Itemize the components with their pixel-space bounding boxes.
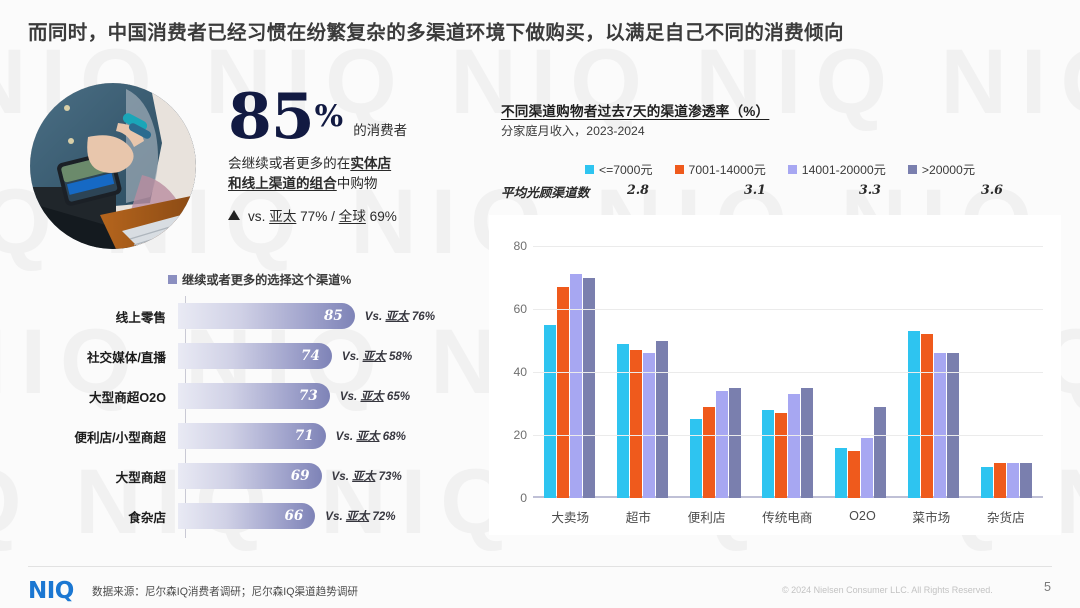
- hbar-category-label: 大型商超O2O: [30, 387, 178, 406]
- hbar-track: 71Vs. 亚太 68%: [178, 416, 460, 456]
- hbar-note-value: 76%: [409, 310, 435, 323]
- hbar-category-label: 线上零售: [30, 307, 178, 326]
- vchart-bar[interactable]: [643, 353, 655, 498]
- hbar-value-label: 85: [324, 308, 343, 324]
- kpi-desc-bold1: 实体店: [350, 156, 391, 171]
- legend-swatch-icon: [168, 275, 177, 284]
- hbar-note-region: 亚太: [356, 430, 379, 443]
- vchart-bar[interactable]: [835, 448, 847, 498]
- right-chart-subtitle: 分家庭月收入，2023-2024: [501, 121, 645, 139]
- legend-swatch-icon: [675, 165, 684, 174]
- hbar-row: 便利店/小型商超71Vs. 亚太 68%: [30, 416, 460, 456]
- hbar-note-value: 72%: [369, 510, 395, 523]
- vchart-gridline: [533, 309, 1043, 310]
- vchart-bar[interactable]: [716, 391, 728, 498]
- vchart-bar[interactable]: [690, 419, 702, 498]
- kpi-percent-sign: %: [315, 99, 344, 134]
- vchart-x-label: O2O: [849, 509, 876, 523]
- hbar-track: 74Vs. 亚太 58%: [178, 336, 460, 376]
- vchart-bar[interactable]: [934, 353, 946, 498]
- hbar-value-label: 66: [284, 508, 303, 524]
- hbar-value-label: 69: [291, 468, 310, 484]
- kpi-desc-part2: 中购物: [337, 176, 378, 191]
- vchart-bar[interactable]: [557, 287, 569, 498]
- page-title: 而同时，中国消费者已经习惯在纷繁复杂的多渠道环境下做购买，以满足自己不同的消费倾…: [28, 16, 844, 45]
- vchart-bar[interactable]: [1020, 463, 1032, 498]
- hbar-note-region: 亚太: [352, 470, 375, 483]
- kpi-vs-apac-value: 77% /: [296, 209, 338, 224]
- hbar-benchmark-note: Vs. 亚太 65%: [340, 388, 410, 404]
- hbar-benchmark-note: Vs. 亚太 73%: [332, 468, 402, 484]
- vchart-bar[interactable]: [775, 413, 787, 498]
- kpi-headline: 85 % 的消费者: [228, 88, 468, 146]
- legend-label: 14001-20000元: [802, 160, 886, 178]
- vchart-gridline: [533, 246, 1043, 247]
- vchart-bar[interactable]: [801, 388, 813, 498]
- average-channels-value: 3.6: [981, 182, 1003, 197]
- vchart-y-tick-label: 40: [487, 365, 527, 379]
- page-number: 5: [1044, 580, 1051, 594]
- legend-item[interactable]: 7001-14000元: [675, 160, 766, 178]
- hbar-fill: 74: [178, 343, 332, 369]
- vchart-plot-area: 020406080: [533, 246, 1043, 498]
- hbar-benchmark-note: Vs. 亚太 68%: [336, 428, 406, 444]
- average-channels-value: 3.1: [744, 182, 766, 197]
- hbar-track: 73Vs. 亚太 65%: [178, 376, 460, 416]
- niq-logo: NIQ: [28, 578, 74, 604]
- kpi-block: 85 % 的消费者 会继续或者更多的在实体店和线上渠道的组合中购物 vs. 亚太…: [228, 88, 468, 225]
- hbar-fill: 66: [178, 503, 315, 529]
- vchart-bar[interactable]: [544, 325, 556, 498]
- vchart-bar[interactable]: [762, 410, 774, 498]
- kpi-desc-part1: 会继续或者更多的在: [228, 156, 350, 171]
- hbar-note-region: 亚太: [363, 350, 386, 363]
- vchart-bar[interactable]: [729, 388, 741, 498]
- footer-divider: [28, 566, 1052, 567]
- hbar-category-label: 社交媒体/直播: [30, 347, 178, 366]
- vchart-x-axis-labels: 大卖场超市便利店传统电商O2O菜市场杂货店: [533, 505, 1043, 527]
- vchart-bar[interactable]: [908, 331, 920, 498]
- vchart-x-label: 传统电商: [762, 507, 812, 526]
- vchart-bar[interactable]: [570, 274, 582, 498]
- legend-label: >20000元: [922, 160, 975, 178]
- kpi-vs-prefix: vs.: [248, 209, 269, 224]
- right-chart-title: 不同渠道购物者过去7天的渠道渗透率（%）: [501, 100, 769, 120]
- legend-swatch-icon: [908, 165, 917, 174]
- left-chart-legend-label: 继续或者更多的选择这个渠道%: [182, 270, 351, 288]
- vchart-x-label: 超市: [626, 507, 651, 526]
- average-channels-value: 3.3: [859, 182, 881, 197]
- hbar-note-region: 亚太: [385, 310, 408, 323]
- vchart-bar[interactable]: [703, 407, 715, 498]
- channel-preference-bar-chart: 线上零售85Vs. 亚太 76%社交媒体/直播74Vs. 亚太 58%大型商超O…: [30, 296, 460, 536]
- vchart-gridline: [533, 435, 1043, 436]
- kpi-vs-global-label: 全球: [339, 209, 366, 224]
- slide-root: NIQ NIQ NIQ NIQ NIQ NIQ NIQ NIQ NIQ NIQ …: [0, 0, 1080, 608]
- legend-label: <=7000元: [599, 160, 653, 178]
- vchart-bar[interactable]: [1007, 463, 1019, 498]
- vchart-bar[interactable]: [656, 341, 668, 499]
- hbar-value-label: 71: [295, 428, 314, 444]
- hbar-fill: 71: [178, 423, 326, 449]
- hbar-row: 大型商超69Vs. 亚太 73%: [30, 456, 460, 496]
- vchart-y-tick-label: 0: [487, 491, 527, 505]
- vchart-x-label: 杂货店: [987, 507, 1025, 526]
- vchart-bar[interactable]: [981, 467, 993, 499]
- hbar-row: 食杂店66Vs. 亚太 72%: [30, 496, 460, 536]
- hbar-track: 85Vs. 亚太 76%: [178, 296, 460, 336]
- copyright-note: © 2024 Nielsen Consumer LLC. All Rights …: [782, 585, 993, 595]
- hbar-note-prefix: Vs.: [332, 470, 353, 483]
- vchart-y-tick-label: 60: [487, 302, 527, 316]
- hbar-note-value: 65%: [384, 390, 410, 403]
- vchart-y-tick-label: 80: [487, 239, 527, 253]
- kpi-number: 85: [228, 88, 314, 146]
- hbar-track: 69Vs. 亚太 73%: [178, 456, 460, 496]
- hbar-category-label: 便利店/小型商超: [30, 427, 178, 446]
- hbar-note-value: 73%: [375, 470, 401, 483]
- hbar-row: 社交媒体/直播74Vs. 亚太 58%: [30, 336, 460, 376]
- left-chart-legend: 继续或者更多的选择这个渠道%: [168, 270, 351, 288]
- hbar-note-region: 亚太: [360, 390, 383, 403]
- hbar-track: 66Vs. 亚太 72%: [178, 496, 460, 536]
- hbar-fill: 73: [178, 383, 330, 409]
- vchart-bar[interactable]: [994, 463, 1006, 498]
- source-note: 数据来源：尼尔森IQ消费者调研；尼尔森IQ渠道趋势调研: [92, 584, 358, 599]
- vchart-bar[interactable]: [788, 394, 800, 498]
- hbar-value-label: 73: [299, 388, 318, 404]
- triangle-up-icon: [228, 210, 240, 220]
- penetration-grouped-bar-chart: 020406080 大卖场超市便利店传统电商O2O菜市场杂货店: [489, 215, 1061, 535]
- photo-illustration: [30, 83, 196, 249]
- vchart-bar[interactable]: [947, 353, 959, 498]
- vchart-x-label: 便利店: [688, 507, 726, 526]
- legend-swatch-icon: [788, 165, 797, 174]
- hbar-note-region: 亚太: [346, 510, 369, 523]
- hbar-row: 大型商超O2O73Vs. 亚太 65%: [30, 376, 460, 416]
- hbar-benchmark-note: Vs. 亚太 58%: [342, 348, 412, 364]
- hbar-note-prefix: Vs.: [365, 310, 386, 323]
- hbar-note-prefix: Vs.: [325, 510, 346, 523]
- kpi-vs-apac-label: 亚太: [269, 209, 296, 224]
- kpi-desc-bold2: 和线上渠道的组合: [228, 176, 337, 191]
- vchart-bar[interactable]: [921, 334, 933, 498]
- hbar-note-prefix: Vs.: [340, 390, 361, 403]
- average-channels-label: 平均光顾渠道数: [501, 182, 589, 201]
- hbar-fill: 85: [178, 303, 355, 329]
- hbar-value-label: 74: [301, 348, 320, 364]
- hbar-row: 线上零售85Vs. 亚太 76%: [30, 296, 460, 336]
- hbar-benchmark-note: Vs. 亚太 72%: [325, 508, 395, 524]
- kpi-subject: 的消费者: [353, 119, 407, 139]
- hero-photo: [30, 83, 196, 249]
- kpi-vs-global-value: 69%: [366, 209, 397, 224]
- vchart-x-label: 大卖场: [551, 507, 589, 526]
- vchart-bar[interactable]: [583, 278, 595, 499]
- hbar-category-label: 食杂店: [30, 507, 178, 526]
- legend-item[interactable]: >20000元: [908, 160, 975, 178]
- hbar-note-value: 68%: [380, 430, 406, 443]
- legend-swatch-icon: [585, 165, 594, 174]
- average-channels-value: 2.8: [627, 182, 649, 197]
- kpi-description: 会继续或者更多的在实体店和线上渠道的组合中购物: [228, 154, 468, 193]
- vchart-gridline: [533, 372, 1043, 373]
- legend-item[interactable]: 14001-20000元: [788, 160, 886, 178]
- hbar-note-value: 58%: [386, 350, 412, 363]
- legend-item[interactable]: <=7000元: [585, 160, 653, 178]
- kpi-vs-text: vs. 亚太 77% / 全球 69%: [248, 205, 397, 225]
- vchart-x-label: 菜市场: [912, 507, 950, 526]
- kpi-comparison: vs. 亚太 77% / 全球 69%: [228, 205, 468, 225]
- hbar-note-prefix: Vs.: [336, 430, 357, 443]
- hbar-category-label: 大型商超: [30, 467, 178, 486]
- hbar-fill: 69: [178, 463, 322, 489]
- vchart-bar[interactable]: [861, 438, 873, 498]
- vchart-bar[interactable]: [617, 344, 629, 498]
- hbar-benchmark-note: Vs. 亚太 76%: [365, 308, 435, 324]
- vchart-y-tick-label: 20: [487, 428, 527, 442]
- hbar-note-prefix: Vs.: [342, 350, 363, 363]
- vchart-bar[interactable]: [848, 451, 860, 498]
- legend-label: 7001-14000元: [689, 160, 766, 178]
- right-chart-legend: <=7000元7001-14000元14001-20000元>20000元: [585, 160, 975, 178]
- vchart-bar[interactable]: [874, 407, 886, 498]
